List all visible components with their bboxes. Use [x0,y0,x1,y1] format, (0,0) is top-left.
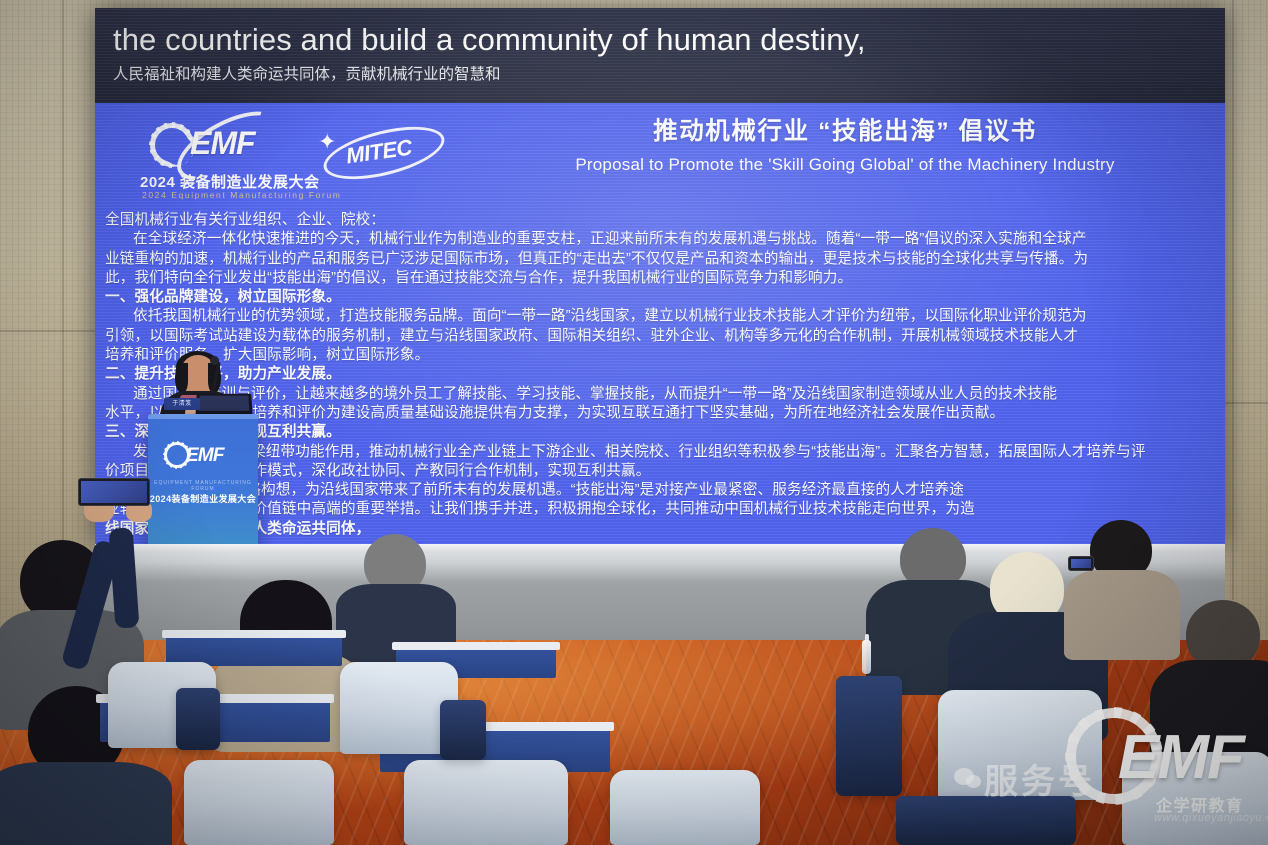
body-line: 依托我国机械行业的优势领域，打造技能服务品牌。面向“一带一路”沿线国家，建立以机… [105,307,1215,326]
wall-seam [0,330,95,332]
body-line: 业转型升级、迈向全球价值链中高端的重要举措。让我们携手并进，积极拥抱全球化，共同… [105,500,1215,519]
body-line: 引领，以国际考试站建设为载体的服务机制，建立与沿线国家政府、国际相关组织、驻外企… [105,327,1215,346]
slide-content: EMF 2024 装备制造业发展大会 2024 Equipment Manufa… [95,103,1225,544]
body-line: 培养和评价服务，扩大国际影响，树立国际形象。 [105,346,1215,365]
audience-chair [176,688,220,750]
podium-emf-logo-icon: EMF [160,438,246,472]
audience-phone [1068,556,1094,571]
audience-chair [610,770,760,845]
audience-chair [836,676,902,796]
body-salutation: 全国机械行业有关行业组织、企业、院校： [105,211,1215,230]
body-line: 价项目的合作内容与合作模式，深化政社协同、产教同行合作机制，实现互利共赢。 [105,462,1215,481]
stage-edge [95,544,1225,553]
mitec-logo-icon: MITEC [300,129,460,181]
slide-body-text: 全国机械行业有关行业组织、企业、院校： 在全球经济一体化快速推进的今天，机械行业… [105,211,1215,539]
wall-seam [1232,0,1234,600]
podium-title-chinese: 2024装备制造业发展大会 [148,492,258,505]
slide-title-block: 推动机械行业 “技能出海” 倡议书 Proposal to Promote th… [475,115,1215,178]
caption-chinese-line: 人民福祉和构建人类命运共同体，贡献机械行业的智慧和 [113,62,1207,88]
audience-chair [938,690,1102,800]
phone-screen [81,481,147,503]
speaker-nameplate-text: 于清笈 [164,398,200,410]
water-bottle [862,640,871,674]
body-line: 水平，以技术技能人才培养和评价为建设高质量基础设施提供有力支撑，为实现互联互通打… [105,404,1215,423]
speaker-hair-left [175,363,188,393]
phone-screen [1071,559,1091,568]
emf-logo-english: 2024 Equipment Manufacturing Forum [142,190,341,200]
logo-group: EMF 2024 装备制造业发展大会 2024 Equipment Manufa… [140,121,470,207]
audience-chair [440,700,486,760]
audience-chair [184,760,334,845]
podium-subtitle-english: EQUIPMENT MANUFACTURING FORUM [148,480,258,492]
audience-phone [78,478,150,506]
slide-header: EMF 2024 装备制造业发展大会 2024 Equipment Manufa… [95,115,1225,207]
emf-wordmark: EMF [190,125,255,162]
laptop-screen [199,396,250,411]
slide-title-chinese: 推动机械行业 “技能出海” 倡议书 [475,115,1215,149]
body-line: 业链重构的加速，机械行业的产品和服务已广泛涉足国际市场，但真正的“走出去”不仅仅… [105,250,1215,269]
caption-bar: the countries and build a community of h… [95,8,1225,103]
body-line: 通过国际化培训与评价，让越来越多的境外员工了解技能、学习技能、掌握技能，从而提升… [105,385,1215,404]
podium-top-edge [148,414,258,419]
emf-logo-chinese: 2024 装备制造业发展大会 [140,171,320,192]
body-line: 发挥行业组织的桥梁纽带功能作用，推动机械行业全产业链上下游企业、相关院校、行业组… [105,443,1215,462]
audience-torso [1064,570,1180,660]
section-heading: 三、深化协同合作，实现互利共赢。 [105,423,1215,442]
wall-seam [62,0,64,560]
body-line: 线国家人民福祉和构建人类命运共同体， [105,520,1215,539]
speaker-nameplate: 于清笈 [164,398,200,410]
audience-torso [0,762,172,845]
section-heading: 二、提升技能水平，助力产业发展。 [105,365,1215,384]
section-heading: 一、强化品牌建设，树立国际形象。 [105,288,1215,307]
caption-english-line: the countries and build a community of h… [113,20,1207,60]
slide-title-english: Proposal to Promote the 'Skill Going Glo… [475,152,1215,178]
audience-desk-top [162,630,346,638]
audience-desk-top [392,642,560,650]
body-line: “一带一路”倡议战略构想，为沿线国家带来了前所未有的发展机遇。“技能出海”是对接… [105,481,1215,500]
conference-photo: the countries and build a community of h… [0,0,1268,845]
audience-chair [404,760,568,845]
podium-emf-wordmark: EMF [186,445,224,467]
audience-chair [896,796,1076,845]
emf-logo-icon: EMF [150,121,282,171]
audience-chair [1122,752,1268,845]
body-line: 在全球经济一体化快速推进的今天，机械行业作为制造业的重要支柱，正迎来前所未有的发… [105,230,1215,249]
led-presentation-screen: the countries and build a community of h… [95,8,1225,544]
body-line: 此，我们特向全行业发出“技能出海”的倡议，旨在通过技能交流与合作，提升我国机械行… [105,269,1215,288]
